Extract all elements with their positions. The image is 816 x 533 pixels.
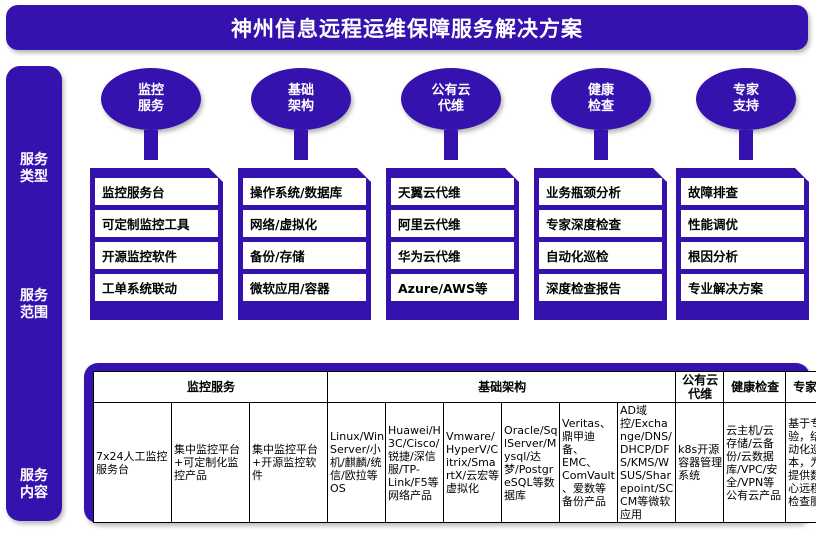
connector-publiccloud bbox=[444, 130, 458, 160]
scope-item[interactable]: 专业解决方案 bbox=[681, 274, 804, 301]
connector-monitoring bbox=[144, 130, 158, 160]
scope-item[interactable]: 根因分析 bbox=[681, 242, 804, 269]
rail-label-service-scope-line2: 范围 bbox=[6, 305, 62, 322]
scope-item[interactable]: 深度检查报告 bbox=[539, 274, 662, 301]
diagram-canvas: 神州信息远程运维保障服务解决方案 服务 类型 服务 范围 服务 内容 监控 服务… bbox=[0, 0, 816, 533]
scope-item[interactable]: 操作系统/数据库 bbox=[243, 178, 366, 205]
scope-item[interactable]: 工单系统联动 bbox=[95, 274, 218, 301]
table-cell: 集中监控平台+可定制化监控产品 bbox=[172, 403, 250, 523]
connector-expertsupport bbox=[739, 130, 753, 160]
service-type-infrastructure[interactable]: 基础 架构 bbox=[251, 68, 351, 130]
scope-column-publiccloud: 天翼云代维 阿里云代维 华为云代维 Azure/AWS等 bbox=[386, 168, 519, 320]
table-cell: Huawei/H3C/Cisco/锐捷/深信服/TP-Link/F5等网络产品 bbox=[386, 403, 444, 523]
service-content-table: 监控服务 基础架构 公有云代维 健康检查 专家支持 7x24人工监控服务台 集中… bbox=[93, 371, 816, 523]
service-type-healthcheck[interactable]: 健康 检查 bbox=[551, 68, 651, 130]
rail-label-service-type: 服务 类型 bbox=[6, 152, 62, 186]
table-cell: Veritas、鼎甲迪备、EMC、ComVault、爱数等备份产品 bbox=[560, 403, 618, 523]
table-row: 7x24人工监控服务台 集中监控平台+可定制化监控产品 集中监控平台+开源监控软… bbox=[94, 403, 816, 523]
table-header-row: 监控服务 基础架构 公有云代维 健康检查 专家支持 bbox=[94, 372, 816, 403]
table-cell: 7x24人工监控服务台 bbox=[94, 403, 172, 523]
scope-item[interactable]: Azure/AWS等 bbox=[391, 274, 514, 301]
service-type-infrastructure-label: 基础 架构 bbox=[288, 83, 314, 115]
service-type-publiccloud[interactable]: 公有云 代维 bbox=[401, 68, 501, 130]
scope-item[interactable]: 监控服务台 bbox=[95, 178, 218, 205]
scope-item[interactable]: 备份/存储 bbox=[243, 242, 366, 269]
table-cell: Oracle/SqlServer/Mysql/达梦/PostgreSQL等数据库 bbox=[502, 403, 560, 523]
scope-item[interactable]: 微软应用/容器 bbox=[243, 274, 366, 301]
service-type-monitoring-label: 监控 服务 bbox=[138, 83, 164, 115]
rail-label-service-scope: 服务 范围 bbox=[6, 288, 62, 322]
service-type-expertsupport[interactable]: 专家 支持 bbox=[696, 68, 796, 130]
table-cell: Linux/WinServer/小机/麒麟/统信/欧拉等OS bbox=[328, 403, 386, 523]
service-type-healthcheck-label: 健康 检查 bbox=[588, 83, 614, 115]
table-cell: AD域控/Exchange/DNS/DHCP/DFS/KMS/WSUS/Shar… bbox=[618, 403, 676, 523]
scope-column-infrastructure: 操作系统/数据库 网络/虚拟化 备份/存储 微软应用/容器 bbox=[238, 168, 371, 320]
scope-item[interactable]: 开源监控软件 bbox=[95, 242, 218, 269]
service-type-monitoring[interactable]: 监控 服务 bbox=[101, 68, 201, 130]
scope-item[interactable]: 自动化巡检 bbox=[539, 242, 662, 269]
scope-item[interactable]: 专家深度检查 bbox=[539, 210, 662, 237]
table-cell: Vmware/HyperV/Citrix/SmartX/云宏等虚拟化 bbox=[444, 403, 502, 523]
table-header-expertsupport: 专家支持 bbox=[786, 372, 816, 403]
connector-healthcheck bbox=[594, 130, 608, 160]
scope-item[interactable]: 业务瓶颈分析 bbox=[539, 178, 662, 205]
title-banner: 神州信息远程运维保障服务解决方案 bbox=[6, 5, 808, 50]
connector-infrastructure bbox=[294, 130, 308, 160]
table-cell: 集中监控平台+开源监控软件 bbox=[250, 403, 328, 523]
scope-item[interactable]: 阿里云代维 bbox=[391, 210, 514, 237]
scope-item[interactable]: 性能调优 bbox=[681, 210, 804, 237]
rail-label-service-type-line2: 类型 bbox=[6, 169, 62, 186]
scope-item[interactable]: 华为云代维 bbox=[391, 242, 514, 269]
table-header-publiccloud: 公有云代维 bbox=[676, 372, 724, 403]
rail-label-service-content-line2: 内容 bbox=[6, 485, 62, 502]
scope-column-expertsupport: 故障排查 性能调优 根因分析 专业解决方案 bbox=[676, 168, 809, 320]
service-content-panel: 监控服务 基础架构 公有云代维 健康检查 专家支持 7x24人工监控服务台 集中… bbox=[84, 363, 810, 523]
table-cell: 基于专家经验，结合自动化巡检脚本，为客户提供数据中心远程健康检查服务 bbox=[786, 403, 816, 523]
service-type-expertsupport-label: 专家 支持 bbox=[733, 83, 759, 115]
scope-column-healthcheck: 业务瓶颈分析 专家深度检查 自动化巡检 深度检查报告 bbox=[534, 168, 667, 320]
scope-item[interactable]: 天翼云代维 bbox=[391, 178, 514, 205]
scope-item[interactable]: 故障排查 bbox=[681, 178, 804, 205]
rail-label-service-content: 服务 内容 bbox=[6, 468, 62, 502]
scope-column-monitoring: 监控服务台 可定制监控工具 开源监控软件 工单系统联动 bbox=[90, 168, 223, 320]
rail-label-service-scope-line1: 服务 bbox=[6, 288, 62, 305]
page-title: 神州信息远程运维保障服务解决方案 bbox=[231, 13, 583, 43]
scope-item[interactable]: 可定制监控工具 bbox=[95, 210, 218, 237]
table-header-infrastructure: 基础架构 bbox=[328, 372, 676, 403]
rail-label-service-content-line1: 服务 bbox=[6, 468, 62, 485]
category-rail: 服务 类型 服务 范围 服务 内容 bbox=[6, 66, 62, 521]
scope-item[interactable]: 网络/虚拟化 bbox=[243, 210, 366, 237]
table-cell: 云主机/云存储/云备份/云数据库/VPC/安全/VPN等公有云产品 bbox=[724, 403, 786, 523]
table-cell: k8s开源容器管理系统 bbox=[676, 403, 724, 523]
table-header-healthcheck: 健康检查 bbox=[724, 372, 786, 403]
rail-label-service-type-line1: 服务 bbox=[6, 152, 62, 169]
table-header-monitoring: 监控服务 bbox=[94, 372, 328, 403]
service-type-publiccloud-label: 公有云 代维 bbox=[431, 83, 470, 115]
